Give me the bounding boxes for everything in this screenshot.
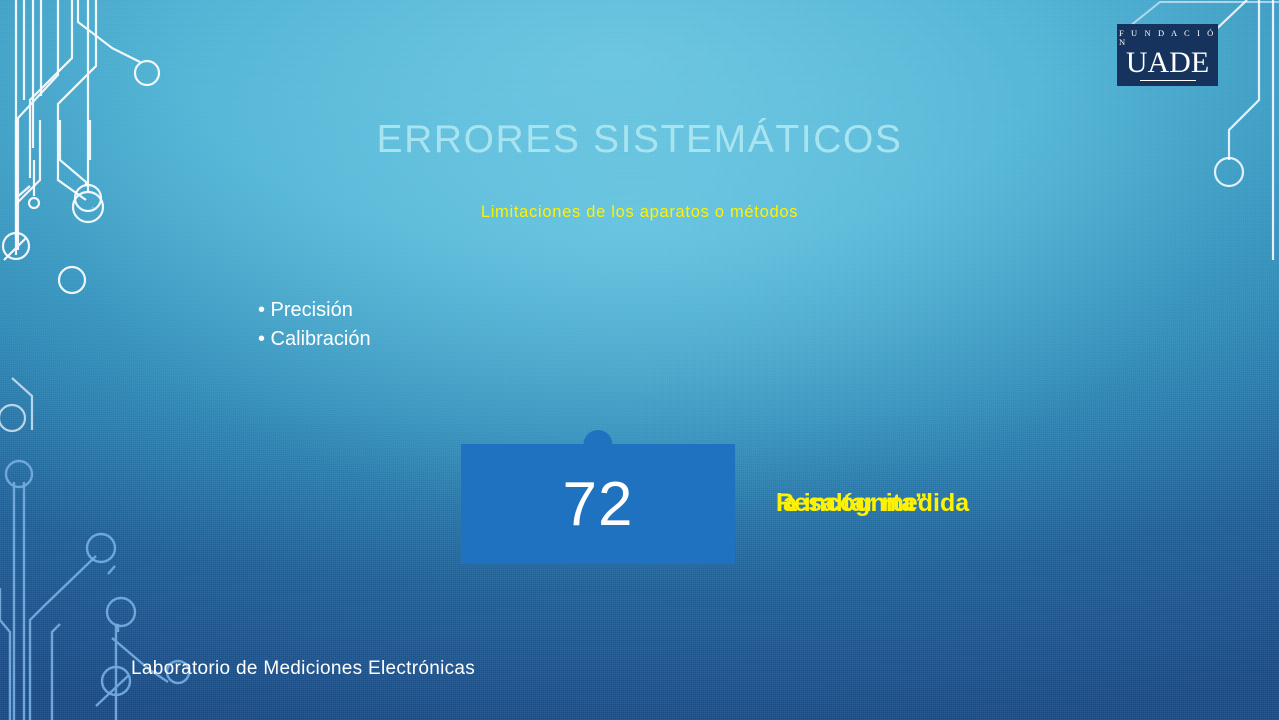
logo-foundation-text: F U N D A C I Ó N: [1119, 29, 1218, 46]
list-item: • Precisión: [258, 296, 371, 325]
presentation-slide: F U N D A C I Ó N UADE ERRORES SISTEMÁTI…: [0, 0, 1279, 720]
measurement-callout-box: 72: [461, 444, 735, 564]
page-title: ERRORES SISTEMÁTICOS: [0, 118, 1279, 162]
annotation-text-secondary: la incógnita”: [776, 489, 927, 518]
uade-logo: F U N D A C I Ó N UADE: [1117, 24, 1218, 86]
bullet-list: • Precisión • Calibración: [258, 296, 371, 354]
measurement-value: 72: [461, 444, 735, 564]
page-subtitle: Limitaciones de los aparatos o métodos: [0, 203, 1279, 222]
slide-footer: Laboratorio de Mediciones Electrónicas: [131, 658, 475, 680]
logo-name-text: UADE: [1126, 47, 1209, 79]
list-item: • Calibración: [258, 325, 371, 354]
logo-underline: [1140, 80, 1196, 82]
